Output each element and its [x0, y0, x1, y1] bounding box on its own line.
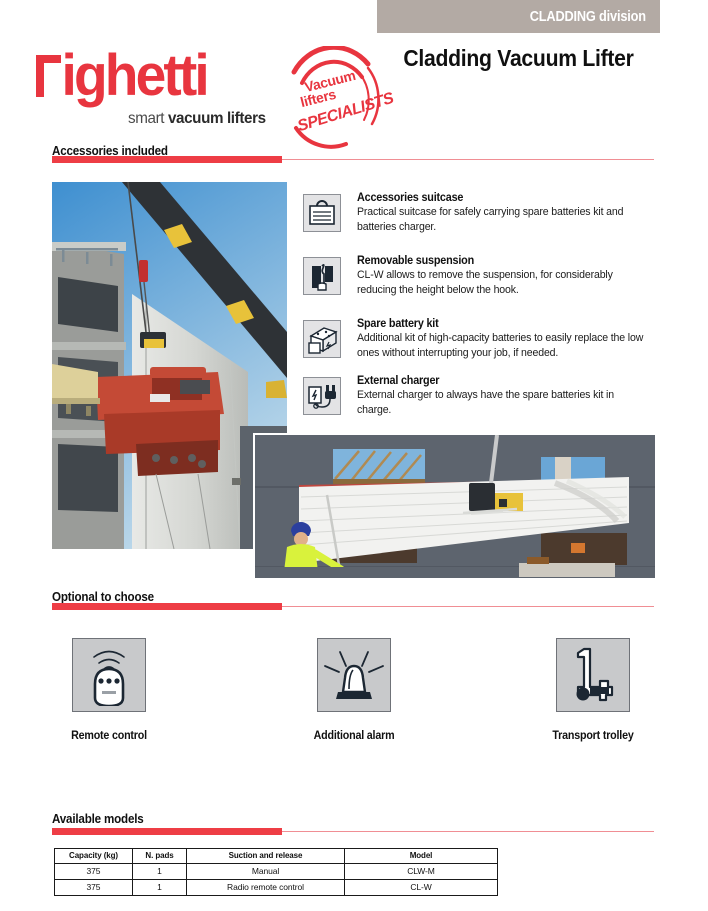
optional-label: Transport trolley — [537, 730, 649, 742]
table-header-row: Capacity (kg) N. pads Suction and releas… — [55, 849, 498, 864]
accessory-title: Accessories suitcase — [357, 192, 639, 204]
accessory-title: External charger — [357, 375, 639, 387]
column-header-suction: Suction and release — [187, 849, 345, 864]
cell-suction: Radio remote control — [187, 880, 345, 896]
column-header-capacity: Capacity (kg) — [55, 849, 133, 864]
accessory-title: Removable suspension — [357, 255, 639, 267]
datasheet-page: CLADDING division Cladding Vacuum Lifter… — [0, 0, 708, 911]
accessory-text: Removable suspension CL-W allows to remo… — [357, 255, 657, 298]
accessory-desc: CL-W allows to remove the suspension, fo… — [357, 268, 645, 298]
cell-capacity: 375 — [55, 864, 133, 880]
accessories-divider — [52, 156, 654, 163]
divider-thick — [52, 156, 282, 163]
division-label: CLADDING division — [530, 9, 660, 25]
brand-tagline: smart vacuum lifters — [128, 110, 266, 128]
cell-suction: Manual — [187, 864, 345, 880]
available-models-table: Capacity (kg) N. pads Suction and releas… — [54, 848, 498, 896]
section-heading-optional: Optional to choose — [52, 590, 154, 604]
section-heading-models: Available models — [52, 812, 144, 826]
brand-name: ighetti — [33, 47, 207, 105]
divider-thick — [52, 828, 282, 835]
division-banner: CLADDING division — [377, 0, 660, 33]
table-row: 375 1 Radio remote control CL-W — [55, 880, 498, 896]
divider-thin — [282, 831, 654, 832]
accessory-desc: External charger to always have the spar… — [357, 388, 645, 418]
cell-capacity: 375 — [55, 880, 133, 896]
accessory-text: Spare battery kit Additional kit of high… — [357, 318, 657, 361]
transport-trolley-icon — [556, 638, 630, 712]
tagline-bold: vacuum lifters — [168, 110, 266, 127]
removable-suspension-icon — [303, 257, 341, 295]
cell-model: CLW-M — [345, 864, 498, 880]
table-row: 375 1 Manual CLW-M — [55, 864, 498, 880]
optional-additional-alarm[interactable]: Additional alarm — [294, 638, 414, 742]
battery-kit-icon — [303, 320, 341, 358]
accessory-text: Accessories suitcase Practical suitcase … — [357, 192, 657, 235]
accessory-desc: Practical suitcase for safely carrying s… — [357, 205, 645, 235]
alarm-beacon-icon — [317, 638, 391, 712]
optional-label: Additional alarm — [298, 730, 410, 742]
secondary-photo — [253, 433, 655, 578]
cell-pads: 1 — [133, 880, 187, 896]
main-photo — [52, 182, 287, 549]
column-header-model: Model — [345, 849, 498, 864]
cell-model: CL-W — [345, 880, 498, 896]
suitcase-icon — [303, 194, 341, 232]
optional-divider — [52, 603, 654, 610]
cell-pads: 1 — [133, 864, 187, 880]
specialists-badge: Vacuum lifters SPECIALISTS — [276, 46, 388, 154]
optional-transport-trolley[interactable]: Transport trolley — [533, 638, 653, 742]
accessory-text: External charger External charger to alw… — [357, 375, 657, 418]
accessory-desc: Additional kit of high-capacity batterie… — [357, 331, 645, 361]
divider-thin — [282, 606, 654, 607]
remote-control-icon — [72, 638, 146, 712]
divider-thick — [52, 603, 282, 610]
column-header-pads: N. pads — [133, 849, 187, 864]
accessory-title: Spare battery kit — [357, 318, 639, 330]
brand-logo: ighetti smart vacuum lifters Vacuum lift… — [33, 44, 373, 134]
models-divider — [52, 828, 654, 835]
divider-thin — [282, 159, 654, 160]
optional-label: Remote control — [53, 730, 165, 742]
optional-remote-control[interactable]: Remote control — [49, 638, 169, 742]
tagline-light: smart — [128, 110, 168, 127]
page-title: Cladding Vacuum Lifter — [388, 45, 648, 72]
external-charger-icon — [303, 377, 341, 415]
